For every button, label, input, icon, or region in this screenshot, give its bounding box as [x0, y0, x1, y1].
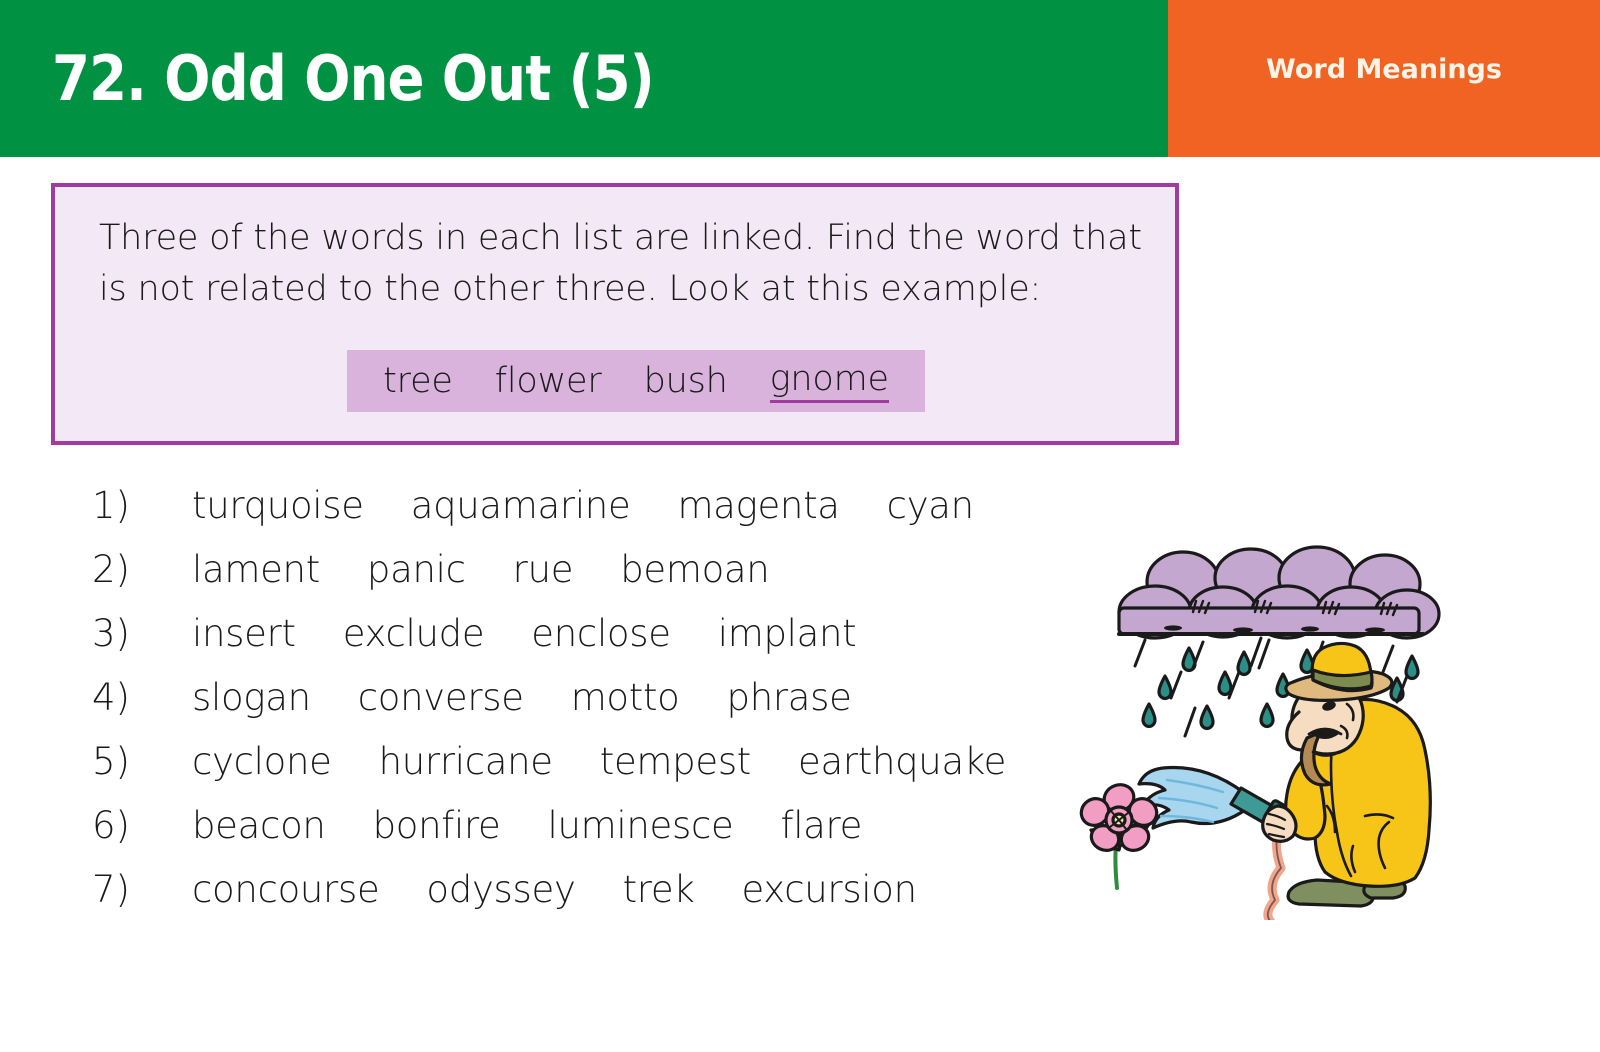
question-number: 3): [92, 612, 192, 655]
question-word[interactable]: beacon: [192, 804, 326, 847]
question-word[interactable]: bonfire: [373, 804, 501, 847]
question-word-group: turquoiseaquamarinemagentacyan: [192, 484, 974, 527]
question-number: 6): [92, 804, 192, 847]
question-word[interactable]: cyclone: [192, 740, 332, 783]
example-word: bush: [644, 361, 728, 401]
question-word[interactable]: insert: [192, 612, 296, 655]
question-list: 1)turquoiseaquamarinemagentacyan2)lament…: [92, 484, 1052, 932]
question-word[interactable]: luminesce: [548, 804, 734, 847]
question-row: 1)turquoiseaquamarinemagentacyan: [92, 484, 1052, 548]
question-number: 4): [92, 676, 192, 719]
header-category-bar: Word Meanings: [1168, 0, 1600, 157]
question-word[interactable]: earthquake: [798, 740, 1006, 783]
question-word[interactable]: magenta: [677, 484, 839, 527]
question-word-group: beaconbonfireluminesceflare: [192, 804, 862, 847]
question-number: 7): [92, 868, 192, 911]
question-word[interactable]: rue: [513, 548, 574, 591]
example-word: flower: [495, 361, 602, 401]
question-word[interactable]: bemoan: [620, 548, 769, 591]
question-word[interactable]: trek: [623, 868, 695, 911]
question-word[interactable]: slogan: [192, 676, 311, 719]
question-row: 7)concourseodysseytrekexcursion: [92, 868, 1052, 932]
question-word[interactable]: converse: [358, 676, 524, 719]
question-word[interactable]: odyssey: [426, 868, 575, 911]
question-word[interactable]: turquoise: [192, 484, 364, 527]
question-word-group: lamentpanicruebemoan: [192, 548, 769, 591]
question-word[interactable]: tempest: [600, 740, 751, 783]
question-word[interactable]: cyan: [887, 484, 974, 527]
question-word[interactable]: hurricane: [379, 740, 553, 783]
question-number: 5): [92, 740, 192, 783]
question-word[interactable]: phrase: [727, 676, 852, 719]
question-row: 3)insertexcludeencloseimplant: [92, 612, 1052, 676]
question-word[interactable]: lament: [192, 548, 320, 591]
question-number: 2): [92, 548, 192, 591]
example-word-band: treeflowerbushgnome: [347, 350, 925, 412]
instruction-text: Three of the words in each list are link…: [99, 213, 1149, 315]
rain-hat: [1286, 643, 1392, 700]
question-row: 5)cyclonehurricanetempestearthquake: [92, 740, 1052, 804]
category-label: Word Meanings: [1266, 54, 1502, 85]
example-word: tree: [383, 361, 453, 401]
instruction-box: Three of the words in each list are link…: [51, 183, 1179, 445]
question-word[interactable]: concourse: [192, 868, 379, 911]
rain-cloud-group: [1119, 547, 1439, 638]
question-word-group: sloganconversemottophrase: [192, 676, 852, 719]
question-word-group: insertexcludeencloseimplant: [192, 612, 856, 655]
question-word[interactable]: enclose: [531, 612, 670, 655]
question-word[interactable]: panic: [367, 548, 466, 591]
illustration-man-watering-flower-in-rain: [1055, 520, 1455, 920]
question-word[interactable]: aquamarine: [411, 484, 631, 527]
question-row: 2)lamentpanicruebemoan: [92, 548, 1052, 612]
header-title-bar: 72. Odd One Out (5): [0, 0, 1168, 157]
question-word[interactable]: motto: [571, 676, 680, 719]
example-word-odd-one-out: gnome: [770, 359, 889, 403]
page-header: 72. Odd One Out (5) Word Meanings: [0, 0, 1600, 157]
question-word-group: concourseodysseytrekexcursion: [192, 868, 917, 911]
question-word[interactable]: exclude: [343, 612, 485, 655]
question-word[interactable]: flare: [780, 804, 862, 847]
page-title: 72. Odd One Out (5): [52, 48, 654, 110]
question-word[interactable]: implant: [718, 612, 857, 655]
question-row: 4)sloganconversemottophrase: [92, 676, 1052, 740]
question-row: 6)beaconbonfireluminesceflare: [92, 804, 1052, 868]
question-word-group: cyclonehurricanetempestearthquake: [192, 740, 1006, 783]
question-number: 1): [92, 484, 192, 527]
question-word[interactable]: excursion: [741, 868, 916, 911]
